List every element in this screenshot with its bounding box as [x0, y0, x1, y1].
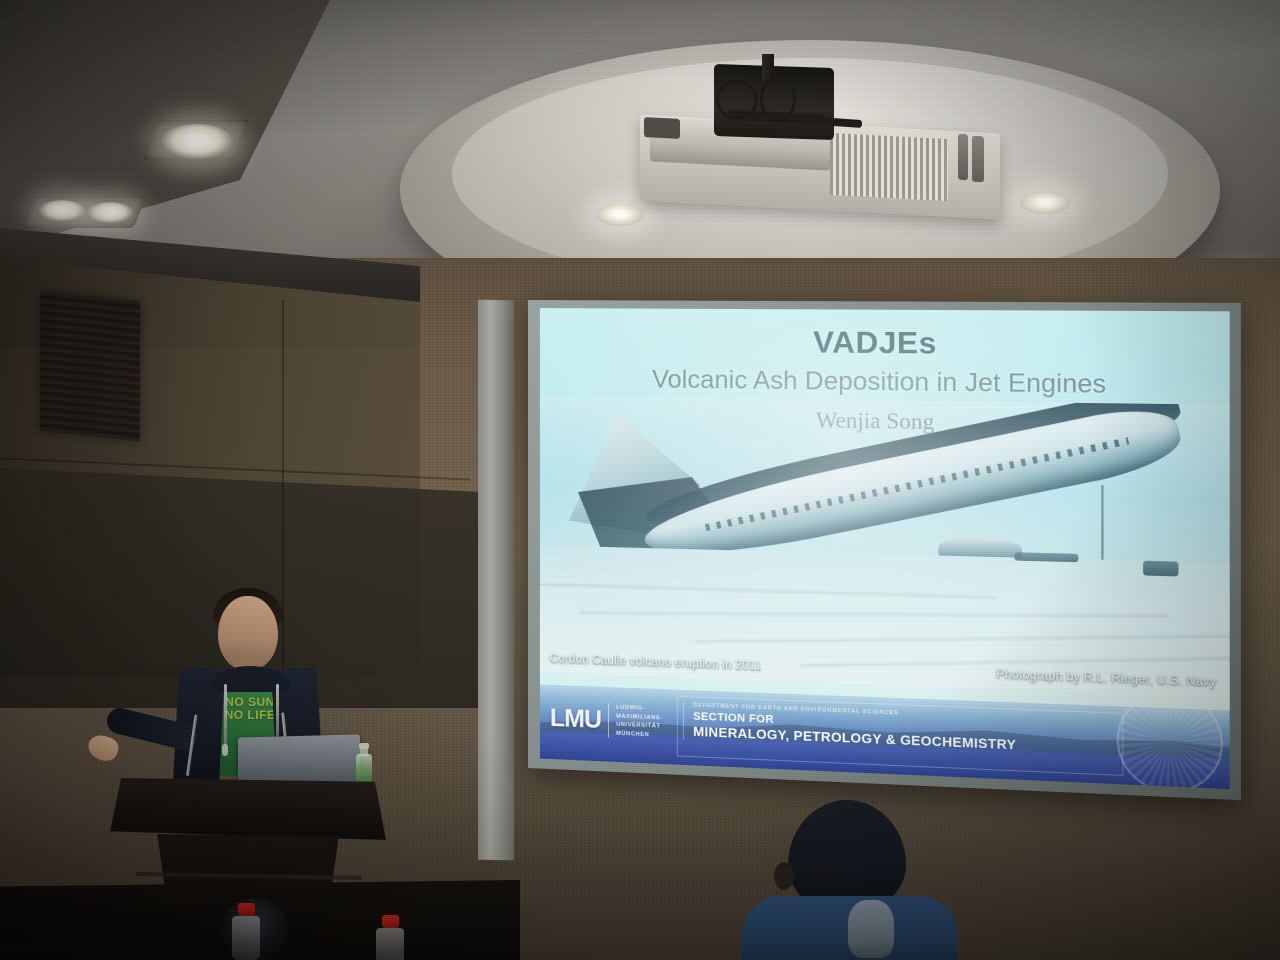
projection-screen: Cordon Caulle volcano eruption in 2011 P…	[528, 300, 1241, 800]
ground-debris	[1014, 552, 1078, 562]
audience-member	[730, 800, 970, 960]
ceiling-projector-assembly	[620, 66, 1000, 226]
foreground-water-bottle-2	[376, 928, 406, 960]
foreground-water-bottle-1	[232, 912, 262, 960]
lectern-button[interactable]	[180, 800, 191, 809]
wall-vent-grille	[40, 291, 140, 442]
bottle-cap	[382, 915, 399, 928]
audience-hood	[848, 900, 894, 958]
lectern-button[interactable]	[196, 800, 207, 809]
projector-cable-loop-2	[760, 76, 796, 122]
ground-streak	[696, 635, 1230, 642]
slide-photo: Cordon Caulle volcano eruption in 2011 P…	[540, 396, 1230, 698]
slide-title: VADJEs	[540, 324, 1230, 364]
lmu-logo-divider	[608, 703, 609, 737]
lectern-button[interactable]	[212, 801, 223, 810]
bottle-body	[376, 928, 404, 960]
lecture-hall-photo: Cordon Caulle volcano eruption in 2011 P…	[0, 0, 1280, 960]
presentation-slide: Cordon Caulle volcano eruption in 2011 P…	[540, 308, 1230, 789]
lmu-logo-mark: LMU	[550, 706, 601, 733]
presenter-laptop	[238, 736, 360, 784]
downlight-1	[160, 124, 234, 160]
hoodie-drawstring-tip-left	[222, 744, 228, 756]
hoodie-drawstring-left	[224, 684, 227, 746]
lectern-top	[110, 778, 386, 840]
lectern-button[interactable]	[148, 799, 159, 808]
ac-vent-slot-1	[958, 134, 968, 181]
downlight-2	[38, 200, 86, 222]
downlight-3	[86, 202, 134, 224]
projector-lens	[644, 117, 680, 139]
wall-pillar	[478, 300, 514, 861]
downlight-6	[1020, 192, 1070, 214]
ground-streak	[800, 657, 1230, 666]
ac-vent-slot-2	[972, 136, 984, 183]
bottle-body	[232, 916, 260, 960]
bottle-neck	[360, 748, 368, 756]
lmu-logo-wordmark: LUDWIG- MAXIMILIANS- UNIVERSITÄT MÜNCHEN	[616, 703, 663, 740]
bottle-cap	[359, 743, 369, 749]
bottle-cap	[238, 903, 255, 916]
lmu-logo: LMU LUDWIG- MAXIMILIANS- UNIVERSITÄT MÜN…	[550, 701, 663, 740]
lectern-button[interactable]	[164, 799, 175, 808]
projector-cable-loop-1	[716, 80, 758, 120]
audience-ear	[774, 862, 794, 890]
ac-vent-grille	[830, 133, 948, 201]
university-seal-icon	[1117, 689, 1223, 789]
ground-streak	[540, 583, 997, 598]
ground-streak	[579, 612, 1170, 617]
ground-vehicle	[1143, 561, 1179, 577]
slide-subtitle: Volcanic Ash Deposition in Jet Engines	[540, 364, 1230, 401]
